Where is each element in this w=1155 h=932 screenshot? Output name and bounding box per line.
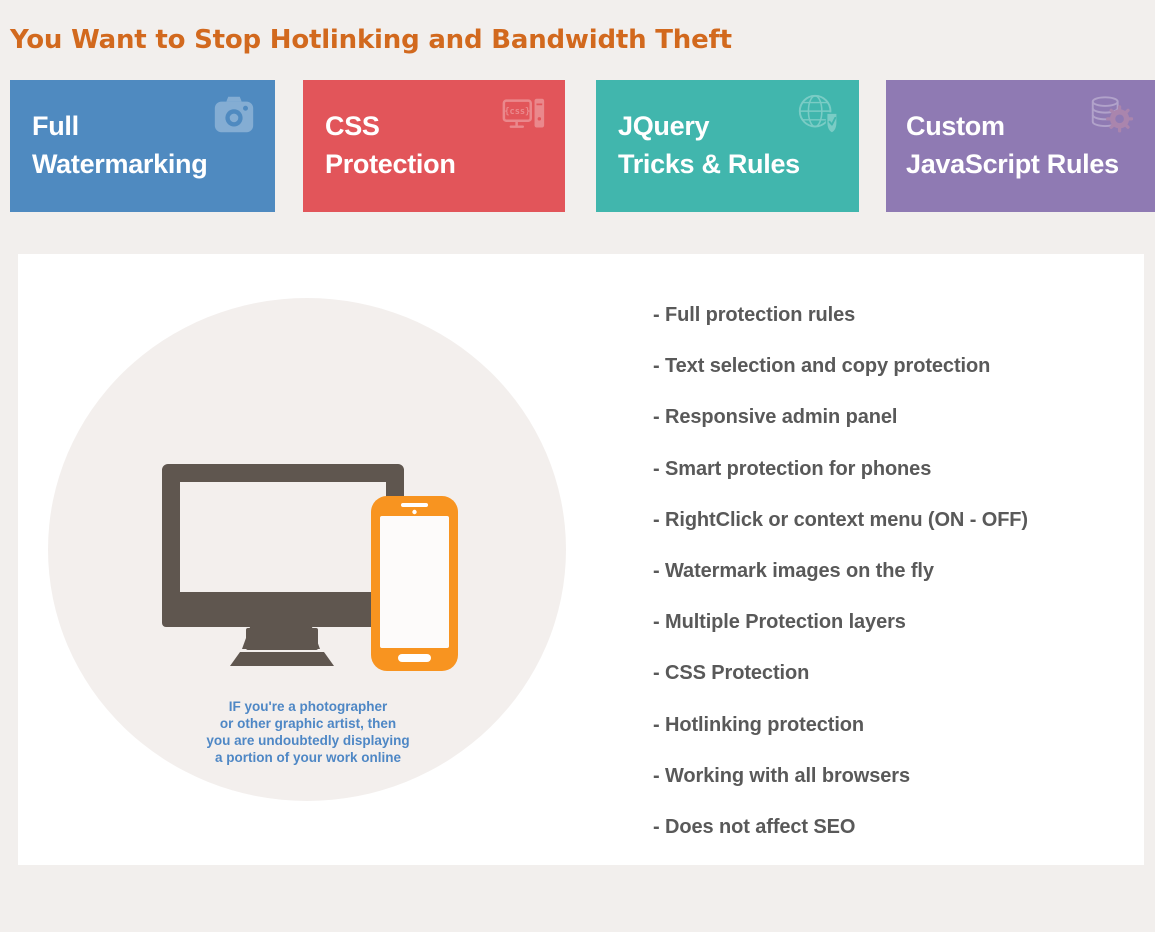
list-item: - Multiple Protection layers [653, 597, 1123, 648]
list-item: - Responsive admin panel [653, 392, 1123, 443]
camera-icon [211, 92, 257, 138]
device-illustration: IF you're a photographer or other graphi… [48, 298, 583, 808]
svg-text:{css}: {css} [504, 107, 530, 117]
content-panel: IF you're a photographer or other graphi… [18, 254, 1144, 865]
card-title-line1: Custom [906, 111, 1005, 141]
feature-list: - Full protection rules - Text selection… [653, 290, 1123, 853]
feature-card-css-protection[interactable]: CSSProtection {css} [303, 80, 565, 212]
globe-shield-icon [795, 92, 841, 138]
feature-card-title: CSSProtection [325, 107, 456, 183]
database-gear-icon [1087, 92, 1133, 138]
bottom-background-strip [0, 865, 1155, 932]
list-item: - Smart protection for phones [653, 444, 1123, 495]
feature-card-full-watermarking[interactable]: FullWatermarking [10, 80, 275, 212]
caption-line: a portion of your work online [188, 749, 428, 766]
list-item: - CSS Protection [653, 648, 1123, 699]
illustration-caption: IF you're a photographer or other graphi… [188, 698, 428, 766]
feature-card-jquery-tricks-rules[interactable]: JQueryTricks & Rules [596, 80, 859, 212]
feature-card-title: FullWatermarking [32, 107, 207, 183]
list-item: - Does not affect SEO [653, 802, 1123, 853]
list-item: - Hotlinking protection [653, 700, 1123, 751]
page-title: You Want to Stop Hotlinking and Bandwidt… [10, 24, 732, 56]
card-title-line1: CSS [325, 111, 380, 141]
list-item: - Full protection rules [653, 290, 1123, 341]
list-item: - RightClick or context menu (ON - OFF) [653, 495, 1123, 546]
list-item: - Working with all browsers [653, 751, 1123, 802]
card-title-line2: Protection [325, 149, 456, 179]
feature-card-row: FullWatermarking CSSProtection {css} [0, 80, 1155, 212]
feature-card-custom-javascript-rules[interactable]: CustomJavaScript Rules [886, 80, 1155, 212]
list-item: - Text selection and copy protection [653, 341, 1123, 392]
desktop-css-icon: {css} [501, 92, 547, 138]
list-item: - Watermark images on the fly [653, 546, 1123, 597]
caption-line: IF you're a photographer [188, 698, 428, 715]
caption-line: or other graphic artist, then [188, 715, 428, 732]
card-title-line2: JavaScript Rules [906, 149, 1119, 179]
monitor-and-phone-graphic [158, 458, 488, 683]
card-title-line1: Full [32, 111, 79, 141]
caption-line: you are undoubtedly displaying [188, 732, 428, 749]
card-title-line2: Tricks & Rules [618, 149, 800, 179]
card-title-line2: Watermarking [32, 149, 207, 179]
feature-card-title: JQueryTricks & Rules [618, 107, 800, 183]
card-title-line1: JQuery [618, 111, 709, 141]
